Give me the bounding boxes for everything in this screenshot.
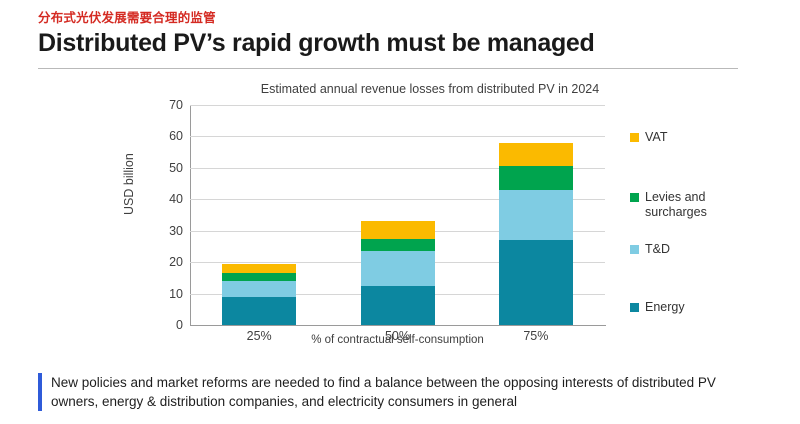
bar-segment-levies-and-surcharges[interactable]: [222, 273, 296, 281]
plot-area: 01020304050607025%50%75%: [190, 105, 605, 325]
bar-segment-t&d[interactable]: [222, 281, 296, 297]
bar-segment-t&d[interactable]: [361, 251, 435, 286]
x-axis-label: % of contractual self-consumption: [190, 334, 605, 346]
page-title: Distributed PV’s rapid growth must be ma…: [38, 28, 768, 58]
bar-75pct[interactable]: [499, 143, 573, 325]
bar-segment-vat[interactable]: [361, 221, 435, 238]
chart-container: Estimated annual revenue losses from dis…: [110, 78, 750, 363]
legend-label: Levies and surcharges: [645, 190, 707, 220]
slide-canvas: 分布式光伏发展需要合理的监管 Distributed PV’s rapid gr…: [0, 0, 800, 424]
bar-segment-vat[interactable]: [222, 264, 296, 273]
callout-text: New policies and market reforms are need…: [51, 373, 758, 411]
legend-label: T&D: [645, 242, 670, 257]
bar-segment-energy[interactable]: [222, 297, 296, 325]
y-axis-tick: 50: [169, 161, 183, 175]
y-axis-tick: 40: [169, 192, 183, 206]
legend-item-t&d[interactable]: T&D: [630, 242, 670, 257]
y-axis-tick: 30: [169, 224, 183, 238]
legend-item-vat[interactable]: VAT: [630, 130, 667, 145]
y-axis-tick: 70: [169, 98, 183, 112]
y-axis-tick: 10: [169, 287, 183, 301]
gridline: [190, 105, 605, 106]
legend-label: VAT: [645, 130, 667, 145]
header-divider: [38, 68, 738, 69]
callout-box: New policies and market reforms are need…: [38, 373, 758, 411]
bar-50pct[interactable]: [361, 221, 435, 325]
bar-segment-energy[interactable]: [361, 286, 435, 325]
legend-swatch-icon: [630, 245, 639, 254]
bar-segment-t&d[interactable]: [499, 190, 573, 240]
legend-item-energy[interactable]: Energy: [630, 300, 685, 315]
callout-accent-bar: [38, 373, 42, 411]
legend-label: Energy: [645, 300, 685, 315]
kicker-chinese: 分布式光伏发展需要合理的监管: [38, 10, 768, 26]
bar-segment-energy[interactable]: [499, 240, 573, 325]
bar-segment-levies-and-surcharges[interactable]: [361, 239, 435, 252]
bar-25pct[interactable]: [222, 264, 296, 325]
y-axis-tick: 20: [169, 255, 183, 269]
y-axis-label: USD billion: [122, 153, 136, 215]
y-axis-tick: 0: [176, 318, 183, 332]
legend-item-levies-and-surcharges[interactable]: Levies and surcharges: [630, 190, 707, 220]
bar-segment-vat[interactable]: [499, 143, 573, 167]
x-axis-line: [190, 325, 606, 326]
legend-swatch-icon: [630, 193, 639, 202]
y-axis-tick: 60: [169, 129, 183, 143]
legend-swatch-icon: [630, 303, 639, 312]
legend-swatch-icon: [630, 133, 639, 142]
bar-segment-levies-and-surcharges[interactable]: [499, 166, 573, 190]
slide-header: 分布式光伏发展需要合理的监管 Distributed PV’s rapid gr…: [38, 10, 768, 58]
chart-title: Estimated annual revenue losses from dis…: [190, 82, 670, 96]
gridline: [190, 136, 605, 137]
